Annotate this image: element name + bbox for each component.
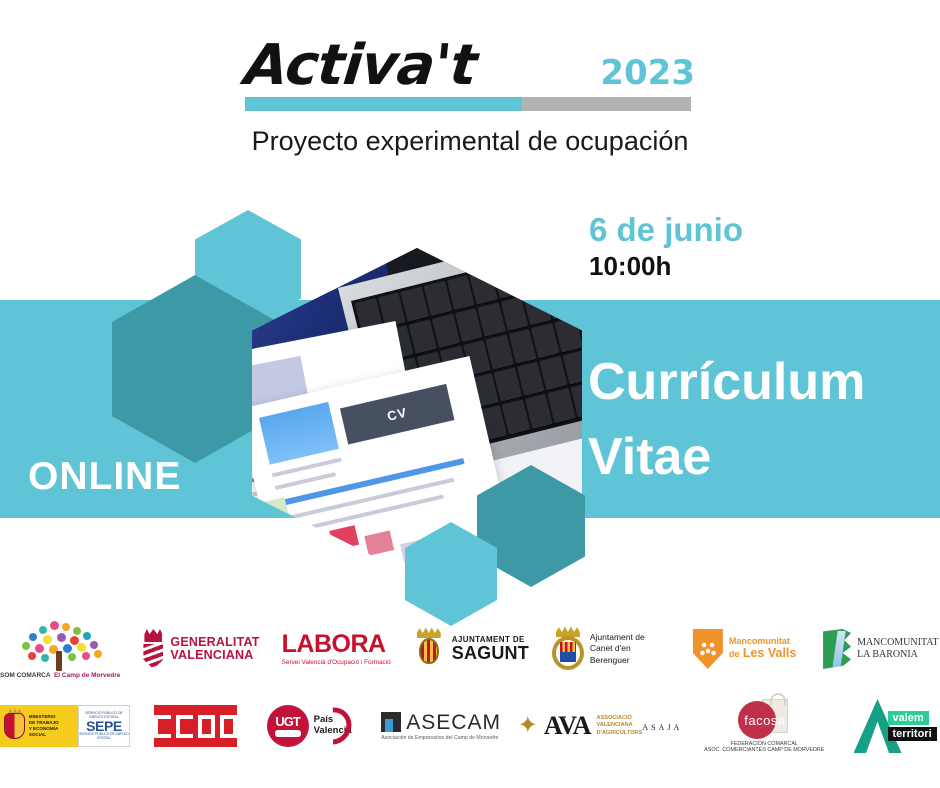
- generalitat-shield-icon: [142, 629, 164, 669]
- brand-year: 2023: [600, 56, 695, 94]
- facosa-mark-icon: facosa: [732, 699, 796, 739]
- progress-bar-fill: [245, 97, 522, 111]
- logo-asecam-word: ASECAM: [406, 712, 501, 733]
- event-time: 10:00h: [589, 252, 671, 281]
- brand-logotype: Activa't: [242, 38, 479, 94]
- logo-ajuntament-sagunt: AJUNTAMENT DE SAGUNT: [413, 627, 529, 671]
- logo-labora-sub: Servei Valencià d'Ocupació i Formació: [282, 659, 391, 666]
- canet-crest-icon: [551, 626, 583, 672]
- avalem-a-mark-icon: [854, 699, 902, 753]
- modality-label: ONLINE: [28, 455, 181, 499]
- logo-ava-word: AVA: [544, 713, 591, 739]
- event-date: 6 de junio: [589, 212, 743, 249]
- tagline: Proyecto experimental de ocupación: [0, 126, 940, 157]
- sponsor-logo-row-2: MINISTERIO DE TRABAJO Y ECONOMÍA SOCIAL …: [0, 690, 940, 762]
- handshake-glyph: [275, 730, 301, 737]
- logo-canet-text: Ajuntament de Canet d'en Berenguer: [590, 632, 668, 666]
- ccoo-o2-glyph: [220, 715, 237, 738]
- event-title-line1: Currículum: [588, 345, 938, 420]
- sagunt-crest-icon: [413, 627, 445, 671]
- logo-facosa-sub2: ASOC. COMERCIANTES CAMP DE MORVEDRE: [704, 747, 824, 753]
- event-title: Currículum Vitae: [588, 345, 938, 496]
- sponsor-logos: SOM COMARCA El Camp de Morvedre GENERALI…: [0, 608, 940, 773]
- logo-ministerio-trabajo-sepe: MINISTERIO DE TRABAJO Y ECONOMÍA SOCIAL …: [0, 705, 130, 747]
- logo-ministerio-text: MINISTERIO DE TRABAJO Y ECONOMÍA SOCIAL: [29, 714, 74, 739]
- logo-som-comarca-text: SOM COMARCA El Camp de Morvedre: [0, 672, 120, 679]
- logo-facosa-word: facosa: [744, 713, 785, 728]
- logo-ugt-pais-valencia: UGT País Valencià: [261, 705, 357, 747]
- logo-avalem-territori: valem territori: [854, 699, 940, 753]
- logo-sepe: SERVICIO PÚBLICO DE EMPLEO ESTATAL SEPE …: [78, 705, 130, 747]
- logo-som-comarca: SOM COMARCA El Camp de Morvedre: [0, 619, 120, 679]
- logo-ava-sub: ASSOCIACIÓ VALENCIANA D'AGRICULTORS: [596, 715, 642, 737]
- poster-canvas: Activa't 2023 Proyecto experimental de o…: [0, 0, 940, 788]
- logo-sagunt-text: AJUNTAMENT DE SAGUNT: [452, 636, 529, 663]
- ava-bird-icon: ✦: [518, 714, 538, 738]
- logo-ajuntament-canet: Ajuntament de Canet d'en Berenguer: [551, 626, 668, 672]
- logo-asecam: ASECAM Asociación de Empresarios del Cam…: [381, 712, 501, 741]
- ugt-emblem-icon: UGT: [267, 705, 309, 747]
- ccoo-c2-glyph: [176, 715, 193, 738]
- logo-labora-word: LABORA: [282, 632, 386, 657]
- logo-generalitat-valenciana: GENERALITAT VALENCIANA: [142, 629, 259, 669]
- logo-mancomunitat-la-baronia: MANCOMUNITAT LA BARONIA: [822, 629, 940, 669]
- ministerio-block: MINISTERIO DE TRABAJO Y ECONOMÍA SOCIAL: [0, 705, 78, 747]
- logo-baronia-text: MANCOMUNITAT LA BARONIA: [857, 637, 938, 662]
- logo-labora: LABORA Servei Valencià d'Ocupació i Form…: [282, 632, 391, 666]
- ccoo-o1-glyph: [198, 715, 215, 738]
- baronia-mark-icon: [823, 629, 851, 669]
- logo-avalem-word2: territori: [888, 727, 937, 741]
- logo-avalem-word1: valem: [888, 711, 929, 725]
- asecam-mark-icon: [381, 712, 401, 732]
- ugt-arc-decor: [307, 700, 359, 752]
- logo-generalitat-text: GENERALITAT VALENCIANA: [170, 636, 259, 663]
- logo-asecam-sub: Asociación de Empresarios del Camp de Mo…: [381, 735, 498, 741]
- spain-coat-of-arms-icon: [4, 713, 25, 739]
- people-tree-icon: [12, 619, 108, 671]
- cv-label-bar: CV: [339, 384, 454, 445]
- les-valls-shield-icon: [693, 629, 723, 669]
- cv-label: CV: [385, 404, 408, 423]
- logo-facosa: facosa FEDERACIÓN COMARCAL ASOC. COMERCI…: [699, 699, 830, 753]
- logo-ccoo: [154, 705, 237, 747]
- sponsor-logo-row-1: SOM COMARCA El Camp de Morvedre GENERALI…: [0, 608, 940, 690]
- poster-header: Activa't 2023 Proyecto experimental de o…: [0, 0, 940, 170]
- event-title-line2: Vitae: [588, 420, 938, 495]
- logo-mancomunitat-les-valls: Mancomunitat de Les Valls: [690, 629, 800, 669]
- ccoo-c1-glyph: [154, 715, 171, 738]
- brand-row: Activa't 2023: [245, 22, 695, 94]
- progress-bar: [245, 97, 691, 111]
- progress-bar-track: [522, 97, 691, 111]
- logo-les-valls-text: Mancomunitat de Les Valls: [729, 637, 797, 661]
- logo-asaja-word: ASAJA: [642, 723, 682, 732]
- logo-ava-asaja: ✦ AVA ASSOCIACIÓ VALENCIANA D'AGRICULTOR…: [525, 713, 675, 739]
